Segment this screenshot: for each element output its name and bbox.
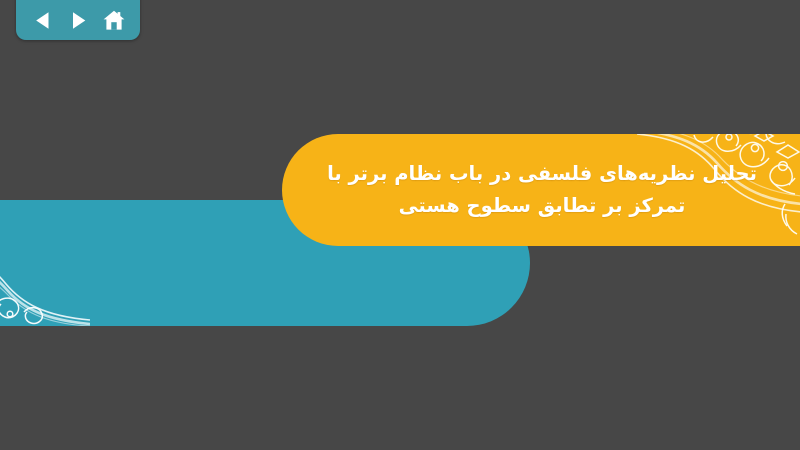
previous-slide-button[interactable]: [27, 6, 57, 34]
title-banner: تحلیل نظریه‌های فلسفی در باب نظام برتر ب…: [282, 134, 800, 246]
right-arrow-icon: [70, 11, 87, 30]
navigation-bar: [16, 0, 140, 40]
title-line-1: تحلیل نظریه‌های فلسفی در باب نظام برتر ب…: [327, 158, 757, 190]
title-line-2: تمرکز بر تطابق سطوح هستی: [327, 190, 757, 222]
arabesque-ornament-teal: [0, 200, 90, 326]
home-button[interactable]: [99, 6, 129, 34]
left-arrow-icon: [34, 11, 51, 30]
page-title: تحلیل نظریه‌های فلسفی در باب نظام برتر ب…: [301, 158, 783, 221]
home-icon: [103, 10, 125, 31]
slide-canvas: تحلیل نظریه‌های فلسفی در باب نظام برتر ب…: [0, 0, 800, 450]
next-slide-button[interactable]: [63, 6, 93, 34]
